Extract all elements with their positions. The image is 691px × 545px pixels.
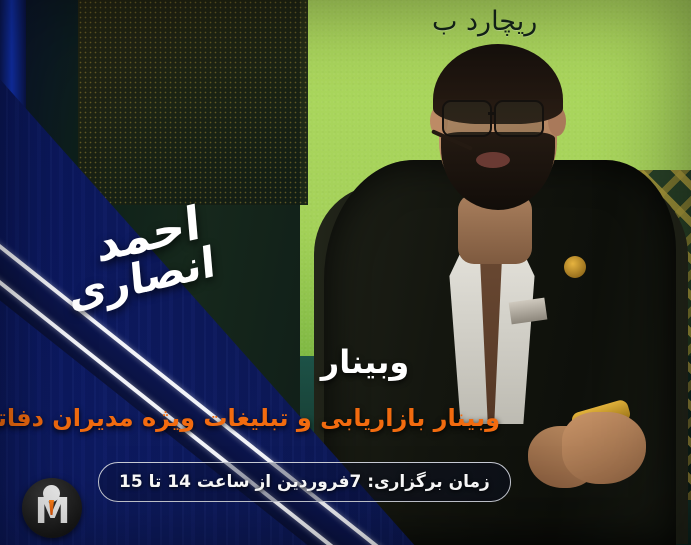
webinar-poster: ریچارد ب احمد انصاری xyxy=(0,0,691,545)
vignette-overlay xyxy=(0,0,691,545)
